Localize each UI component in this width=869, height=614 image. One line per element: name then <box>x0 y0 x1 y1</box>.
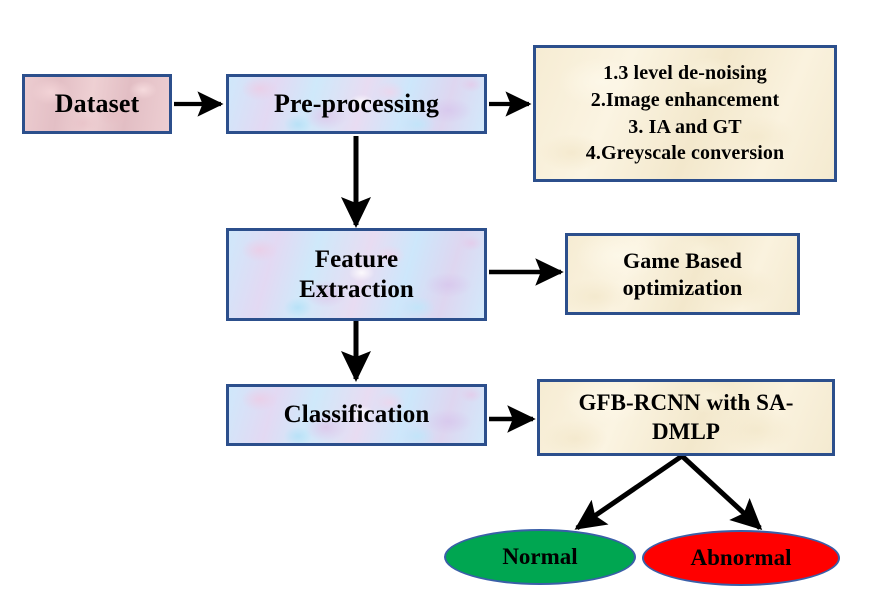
node-dataset-label: Dataset <box>55 89 139 119</box>
node-gfb-rcnn-label-line2: DMLP <box>652 418 720 446</box>
node-abnormal-outcome[interactable]: Abnormal <box>642 530 840 586</box>
arrow-gfb-rcnn-to-normal <box>577 456 682 528</box>
node-classification-label: Classification <box>284 401 430 430</box>
node-normal-label: Normal <box>502 544 577 570</box>
node-preprocessing-steps[interactable]: 1.3 level de-noising 2.Image enhancement… <box>533 45 837 182</box>
preprocessing-step-1: 1.3 level de-noising <box>603 60 767 87</box>
node-gfb-rcnn-label-line1: GFB-RCNN with SA- <box>578 389 793 417</box>
preprocessing-step-2: 2.Image enhancement <box>591 87 780 114</box>
node-feature-extraction-label-line1: Feature <box>315 245 399 275</box>
node-abnormal-label: Abnormal <box>691 545 792 571</box>
node-preprocessing-label: Pre-processing <box>274 89 439 119</box>
arrow-gfb-rcnn-to-abnormal <box>682 456 760 528</box>
node-classification[interactable]: Classification <box>226 384 487 446</box>
node-dataset[interactable]: Dataset <box>22 74 172 134</box>
node-optimization-label-line1: Game Based <box>623 247 742 275</box>
node-feature-extraction[interactable]: Feature Extraction <box>226 228 487 321</box>
node-optimization-label-line2: optimization <box>623 274 743 302</box>
node-game-based-optimization[interactable]: Game Based optimization <box>565 233 800 315</box>
node-feature-extraction-label-line2: Extraction <box>299 275 414 305</box>
node-gfb-rcnn[interactable]: GFB-RCNN with SA- DMLP <box>537 379 835 456</box>
node-normal-outcome[interactable]: Normal <box>444 529 636 585</box>
preprocessing-step-4: 4.Greyscale conversion <box>586 140 784 167</box>
node-preprocessing[interactable]: Pre-processing <box>226 74 487 134</box>
preprocessing-step-3: 3. IA and GT <box>628 114 741 141</box>
